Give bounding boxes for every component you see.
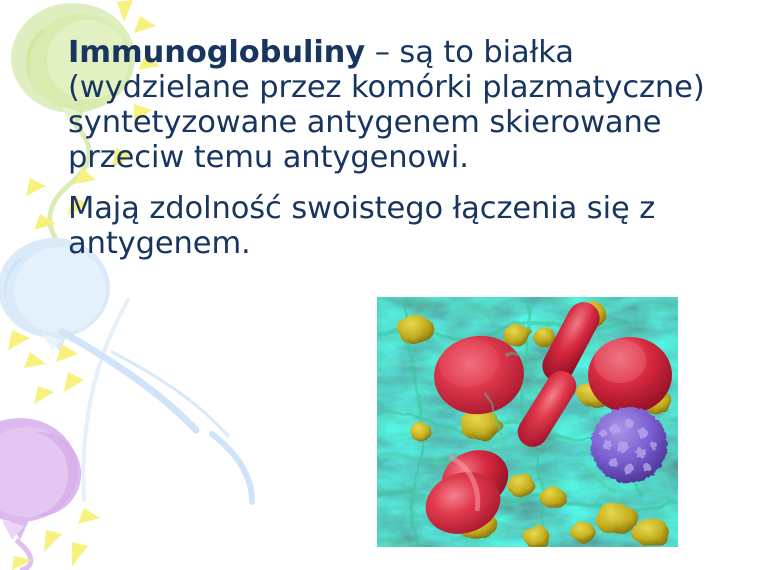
term-immunoglobuliny: Immunoglobuliny [68, 35, 365, 70]
blood-cells-sem-micrograph [377, 297, 678, 547]
binding-text: Mają zdolność swoistego łączenia się z a… [68, 191, 655, 261]
yellow-rays-middle [8, 330, 84, 404]
paragraph-binding: Mają zdolność swoistego łączenia się z a… [68, 192, 728, 262]
purple-balloon [0, 418, 81, 570]
yellow-rays-bottom [12, 508, 100, 570]
slide-canvas: Immunoglobuliny – są to białka (wydziela… [0, 0, 760, 570]
slide-text-body: Immunoglobuliny – są to białka (wydziela… [68, 36, 728, 262]
paragraph-definition: Immunoglobuliny – są to białka (wydziela… [68, 36, 728, 176]
blue-streamers [62, 300, 252, 502]
